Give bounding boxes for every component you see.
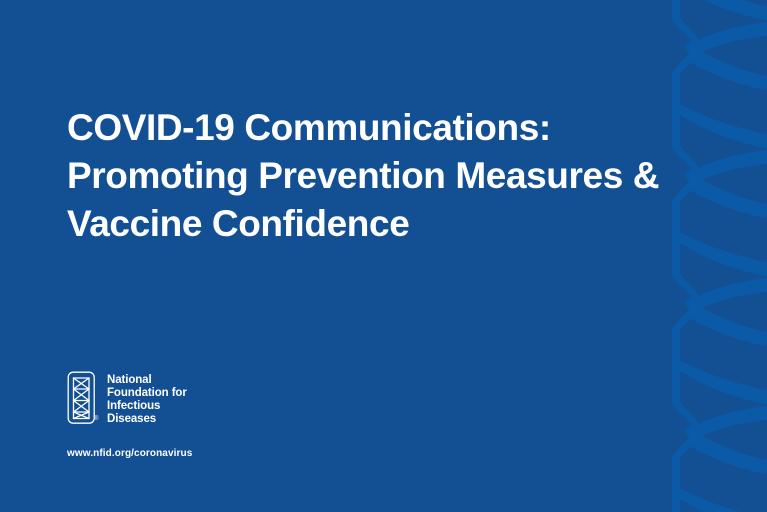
dna-helix-logo-icon: ® (67, 371, 100, 427)
nfid-logo: ® National Foundation for Infectious Dis… (67, 371, 187, 427)
dna-helix-pattern (670, 0, 767, 512)
title-line-2: Promoting Prevention Measures & (67, 152, 667, 200)
wordmark-line-4: Diseases (107, 413, 187, 426)
title-line-1: COVID-19 Communications: (67, 104, 667, 152)
wordmark-line-1: National (107, 374, 187, 387)
website-url[interactable]: www.nfid.org/coronavirus (67, 448, 192, 459)
title-line-3: Vaccine Confidence (67, 200, 667, 248)
registered-trademark-mark: ® (94, 416, 98, 422)
wordmark-line-3: Infectious (107, 400, 187, 413)
page-title: COVID-19 Communications: Promoting Preve… (67, 104, 667, 248)
nfid-wordmark: National Foundation for Infectious Disea… (107, 371, 187, 426)
title-slide: COVID-19 Communications: Promoting Preve… (0, 0, 767, 512)
wordmark-line-2: Foundation for (107, 387, 187, 400)
